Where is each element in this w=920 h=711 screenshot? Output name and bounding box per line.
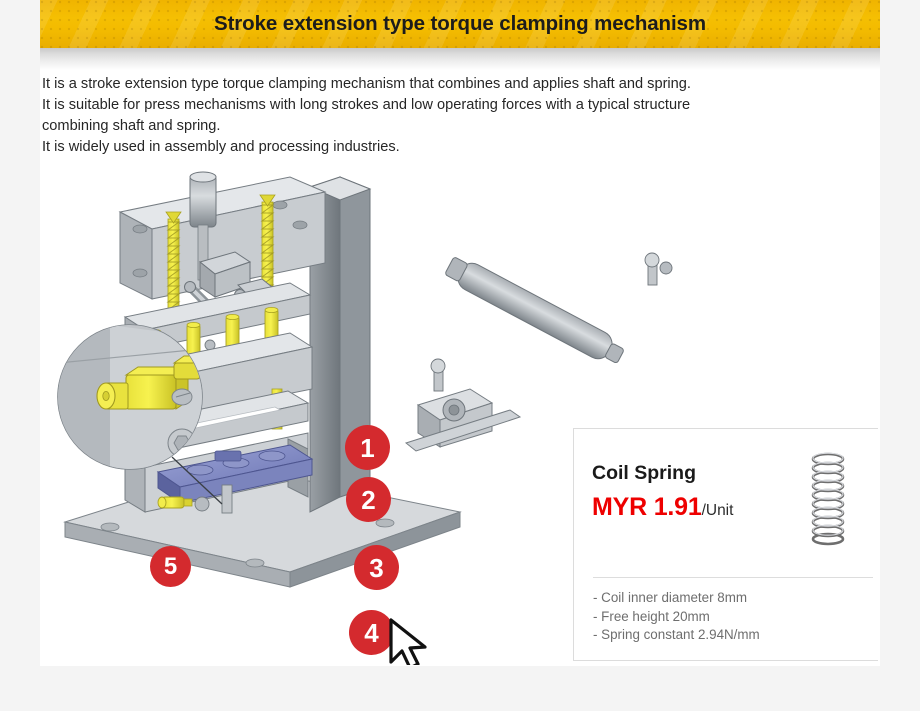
callout-badge-2[interactable]: 2 xyxy=(346,477,391,522)
card-divider xyxy=(593,577,873,578)
description-line-4: It is widely used in assembly and proces… xyxy=(42,137,842,158)
coil-spring-icon xyxy=(802,451,854,547)
product-title: Coil Spring xyxy=(592,462,696,485)
description-block: It is a stroke extension type torque cla… xyxy=(42,74,842,158)
price-amount: MYR 1.91 xyxy=(592,493,702,521)
banner-shadow xyxy=(40,48,880,70)
description-line-1: It is a stroke extension type torque cla… xyxy=(42,74,842,95)
description-line-2: It is suitable for press mechanisms with… xyxy=(42,95,842,116)
price-unit: /Unit xyxy=(702,502,734,519)
cylinder-upper-fitting xyxy=(645,253,672,285)
cylinder-pivot-bracket xyxy=(406,359,520,451)
page-root: Stroke extension type torque clamping me… xyxy=(0,0,920,711)
callout-badge-5[interactable]: 5 xyxy=(150,546,191,587)
spec-item-2: - Free height 20mm xyxy=(593,608,760,627)
page-title: Stroke extension type torque clamping me… xyxy=(40,12,880,36)
mouse-pointer-icon xyxy=(387,618,429,665)
callout-badge-3[interactable]: 3 xyxy=(354,545,399,590)
spec-item-1: - Coil inner diameter 8mm xyxy=(593,589,760,608)
product-price: MYR 1.91/Unit xyxy=(592,493,733,522)
callout-badge-1[interactable]: 1 xyxy=(345,425,390,470)
description-line-3: combining shaft and spring. xyxy=(42,116,842,137)
page-banner: Stroke extension type torque clamping me… xyxy=(40,0,880,48)
diagonal-cylinder-arm xyxy=(406,253,672,451)
product-specs: - Coil inner diameter 8mm - Free height … xyxy=(593,589,760,645)
mechanism-illustration: 1 2 3 4 5 Coil Spring MYR 1.91/Unit xyxy=(40,167,878,665)
product-card[interactable]: Coil Spring MYR 1.91/Unit xyxy=(573,428,878,661)
spec-item-3: - Spring constant 2.94N/mm xyxy=(593,626,760,645)
